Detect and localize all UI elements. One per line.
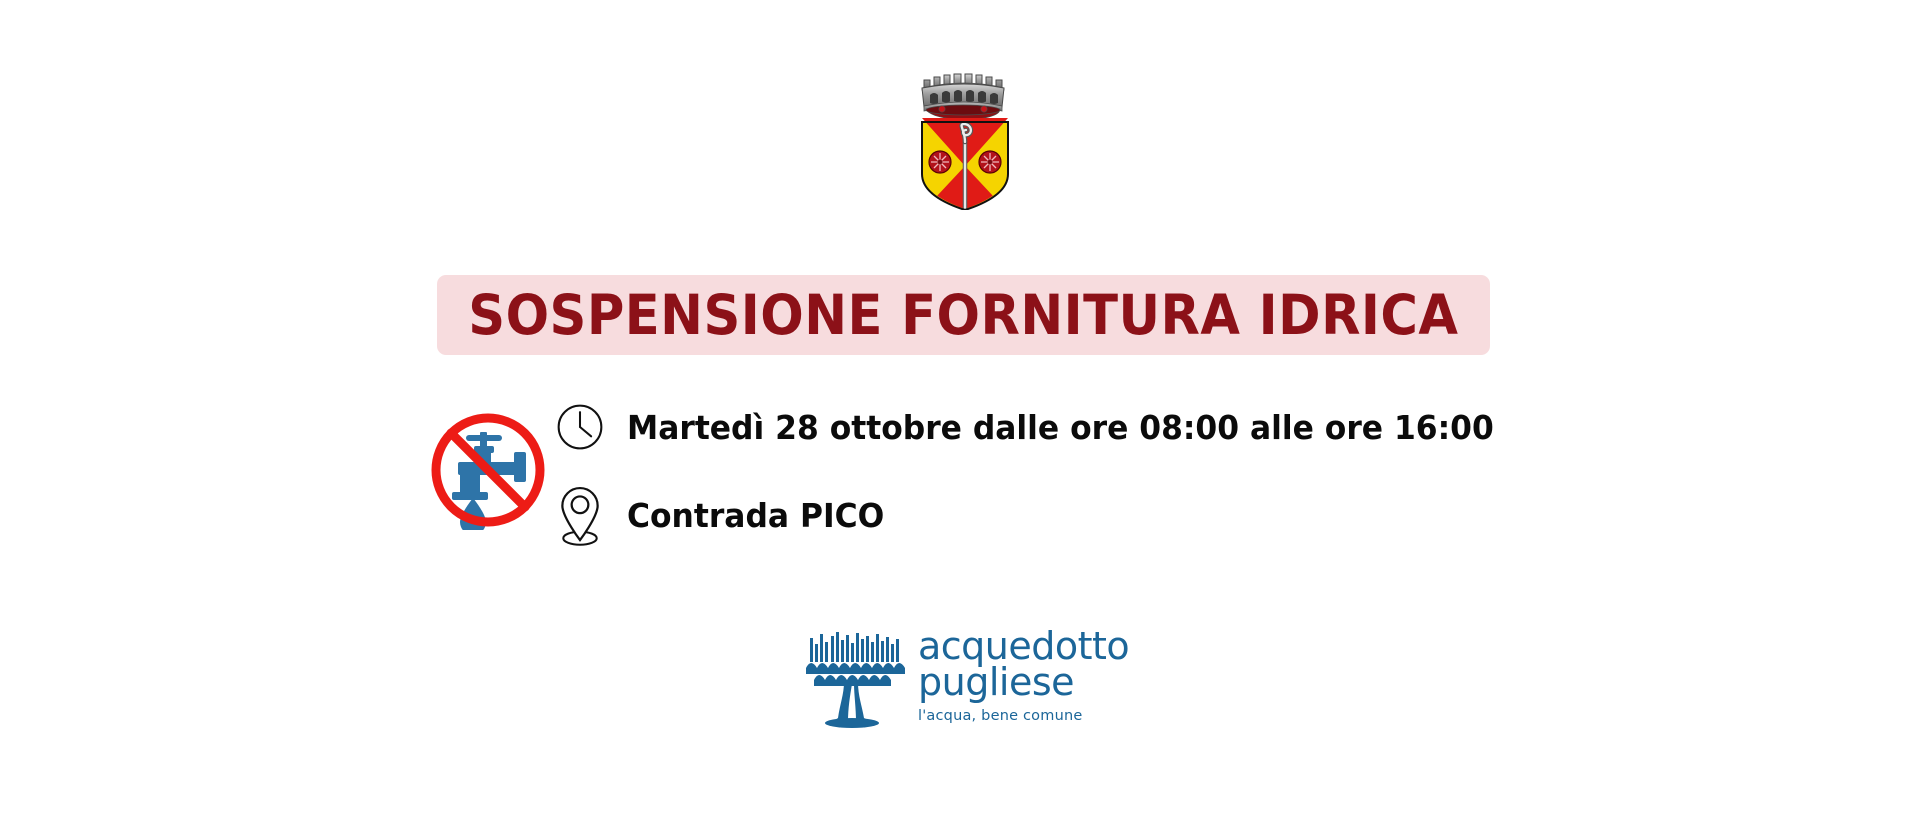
map-pin-icon — [549, 480, 611, 550]
olive-tree-icon — [800, 622, 912, 734]
coat-of-arms-icon — [910, 62, 1020, 210]
logo-line-acquedotto: acquedotto — [918, 628, 1118, 664]
clock-icon — [549, 392, 611, 462]
no-water-supply-icon — [428, 410, 548, 530]
rosette-left — [929, 151, 951, 173]
logo-tagline: l'acqua, bene comune — [918, 708, 1118, 724]
municipal-coat-of-arms — [910, 62, 1020, 210]
poster-canvas: SOSPENSIONE FORNITURA IDRICA — [0, 0, 1920, 819]
shield-icon — [922, 118, 1008, 210]
info-row-place: Contrada PICO — [549, 480, 898, 550]
suspension-location-text: Contrada PICO — [627, 499, 884, 532]
logo-wordmark: acquedotto pugliese l'acqua, bene comune — [918, 628, 1118, 724]
info-row-date: Martedì 28 ottobre dalle ore 08:00 alle … — [549, 392, 1539, 462]
acquedotto-pugliese-logo: acquedotto pugliese l'acqua, bene comune — [800, 622, 1120, 737]
rosette-right — [979, 151, 1001, 173]
mural-crown-icon — [922, 74, 1004, 120]
page-title: SOSPENSIONE FORNITURA IDRICA — [468, 288, 1458, 343]
logo-line-pugliese: pugliese — [918, 664, 1118, 700]
title-banner: SOSPENSIONE FORNITURA IDRICA — [437, 275, 1490, 355]
suspension-datetime-text: Martedì 28 ottobre dalle ore 08:00 alle … — [627, 411, 1494, 444]
